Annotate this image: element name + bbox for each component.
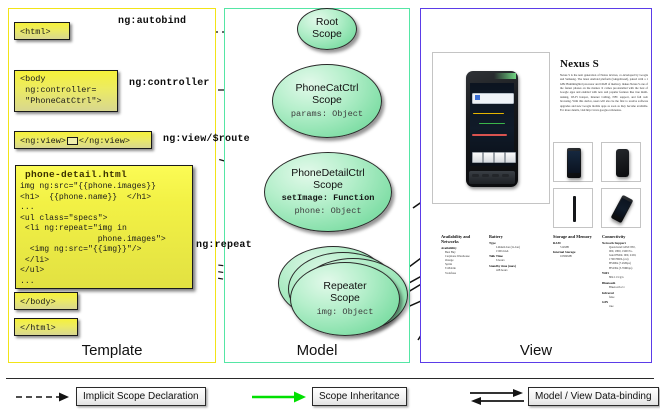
thumb-phone-front-icon (567, 148, 581, 178)
view-description: Nexus S is the next generation of Nexus … (560, 73, 648, 112)
scope-root: Root Scope (297, 8, 357, 50)
phone-app-icon-1 (472, 152, 483, 163)
diagram-canvas: Template Model View <html> <body ng:cont… (0, 0, 660, 420)
ngview-open-tag: <ng:view> (20, 136, 66, 146)
phone-widget-line-2 (479, 123, 506, 125)
spec-column-1: Battery Type Lithium Ion (Li-Ion) 1500 m… (489, 234, 541, 272)
spec-3-g4-val-0: true (602, 304, 650, 308)
phone-menu-key-icon (492, 174, 499, 177)
thumbnail-0[interactable] (553, 142, 593, 182)
spec-2-g1-val-0: 16384MB (553, 254, 603, 258)
code-body-open: <body ng:controller= "PhoneCatCtrl"> (14, 70, 118, 112)
thumb-0-screen (568, 151, 580, 173)
legend-double-arrow-icon (468, 387, 528, 407)
legend-item-databinding: Model / View Data-binding (468, 387, 658, 407)
legend-item-implicit: Implicit Scope Declaration (14, 387, 204, 407)
phone-illustration (466, 71, 518, 187)
spec-1-g1-val-0: 6 hours (489, 258, 541, 262)
spec-column-3: Connectivity Network Support Quad-band G… (602, 234, 650, 309)
phone-statusbar-icon (494, 73, 516, 79)
scope-phonecatctrl: PhoneCatCtrl Scope params: Object (272, 64, 382, 138)
phone-screen (470, 83, 515, 167)
file-card-phone-detail: phone-detail.html img ng:src="{{phone.im… (15, 165, 193, 289)
legend-label-implicit: Implicit Scope Declaration (76, 387, 206, 406)
spec-column-0: Availability and Networks Availability B… (441, 234, 481, 275)
view-heading: Nexus S (560, 58, 599, 70)
main-phone-image-frame (432, 52, 550, 204)
spec-3-g2-val-0: Bluetooth 2.1 (602, 285, 650, 289)
panel-view-label: View (421, 342, 651, 359)
phone-search-key-icon (502, 174, 509, 177)
thumbnail-1[interactable] (601, 142, 641, 182)
thumb-phone-angled-icon (611, 195, 634, 224)
file-card-code: img ng:src="{{phone.images}} <h1> {{phon… (16, 182, 192, 290)
scope-phonedetail-title-2: Scope (313, 180, 343, 192)
code-ngview: <ng:view></ng:view> (14, 131, 152, 149)
ngview-close-tag: </ng:view> (79, 136, 130, 146)
spec-column-0-header: Availability and Networks (441, 234, 481, 244)
code-body-close: </body> (14, 292, 78, 310)
legend-item-inheritance: Scope Inheritance (250, 387, 430, 407)
phone-widget-line-1 (473, 113, 504, 115)
spec-2-g0-val-0: 512MB (553, 245, 603, 249)
legend: Implicit Scope Declaration Scope Inherit… (0, 378, 660, 420)
panel-template-label: Template (9, 342, 215, 359)
scope-phonedetail-title-1: PhoneDetailCtrl (291, 168, 365, 180)
phone-app-icon-4 (505, 152, 516, 163)
scope-root-title-2: Scope (312, 29, 342, 41)
legend-green-arrow-icon (250, 388, 310, 406)
file-card-filename: phone-detail.html (16, 166, 192, 182)
spec-3-g3-val-0: false (602, 295, 650, 299)
scope-phonecat-title-1: PhoneCatCtrl (295, 83, 358, 95)
code-html-open: <html> (14, 22, 70, 40)
edge-label-autobind: ng:autobind (118, 16, 186, 27)
scope-repeater: Repeater Scope img: Object (290, 262, 400, 336)
phone-back-key-icon (472, 174, 479, 177)
legend-divider (6, 378, 654, 379)
scope-phonecat-prop-0: params: Object (291, 109, 363, 119)
panel-model-label: Model (225, 342, 409, 359)
phone-widget-line-3 (472, 134, 507, 136)
spec-3-g1-val-0: 802.11 b/g/n (602, 275, 650, 279)
spec-0-val-5: Vodafone (441, 271, 481, 275)
phone-app-icon-3 (494, 152, 505, 163)
phone-app-icon-2 (483, 152, 494, 163)
scope-repeater-title-2: Scope (330, 293, 360, 305)
spec-column-1-header: Battery (489, 234, 541, 239)
ngview-placeholder-icon (67, 137, 78, 145)
edge-label-repeat: ng:repeat (196, 240, 252, 251)
phone-navigation-dock (469, 171, 515, 184)
thumb-phone-side-icon (573, 196, 576, 222)
scope-phonedetail-prop-0: setImage: Function (282, 193, 375, 203)
legend-label-databinding: Model / View Data-binding (528, 387, 659, 406)
scope-repeater-prop-0: img: Object (317, 307, 374, 317)
spec-1-g2-val-0: 428 hours (489, 268, 541, 272)
thumbnail-3[interactable] (601, 188, 641, 228)
thumb-phone-back-icon (616, 149, 629, 177)
scope-repeater-title-1: Repeater (323, 281, 366, 293)
thumbnail-2[interactable] (553, 188, 593, 228)
scope-phonedetail-prop-1: phone: Object (294, 206, 361, 216)
spec-column-2: Storage and Memory RAM 512MB Internal St… (553, 234, 603, 258)
spec-1-g0-val-1: 1500 mAh (489, 249, 541, 253)
legend-label-inheritance: Scope Inheritance (312, 387, 407, 406)
edge-label-controller: ng:controller (129, 78, 210, 89)
code-html-close: </html> (14, 318, 78, 336)
phone-search-icon (475, 95, 480, 100)
thumb-3-screen (614, 197, 632, 218)
scope-phonecat-title-2: Scope (312, 95, 342, 107)
spec-column-3-header: Connectivity (602, 234, 650, 239)
scope-phonedetailctrl: PhoneDetailCtrl Scope setImage: Function… (264, 152, 392, 232)
legend-dashed-arrow-icon (14, 388, 74, 406)
phone-search-widget (472, 93, 514, 103)
spec-column-2-header: Storage and Memory (553, 234, 603, 239)
phone-home-key-icon (482, 174, 489, 177)
edge-label-view-route: ng:view/$route (163, 134, 250, 145)
spec-3-g0-val-5: HSUPA (5.76Mbps) (602, 266, 650, 270)
